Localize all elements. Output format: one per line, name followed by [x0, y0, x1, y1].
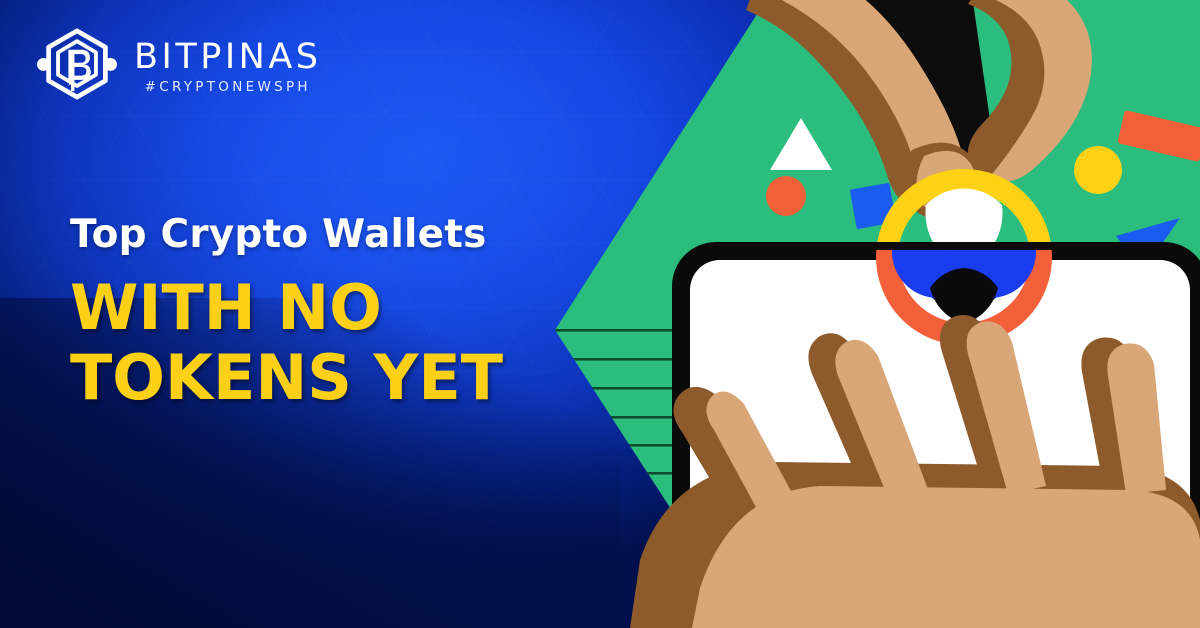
orange-circle [766, 176, 806, 216]
brand-wordmark: BITPINAS #CRYPTONEWSPH [134, 40, 321, 95]
headline-block: Top Crypto Wallets WITH NO TOKENS YET [70, 212, 590, 413]
yellow-circle [1074, 146, 1122, 194]
headline-main: WITH NO TOKENS YET [70, 273, 590, 413]
headline-eyebrow: Top Crypto Wallets [70, 212, 590, 257]
banner-canvas: BITPINAS #CRYPTONEWSPH Top Crypto Wallet… [0, 0, 1200, 628]
headline-line-1: WITH NO [70, 273, 590, 343]
brand-name: BITPINAS [134, 40, 321, 75]
brand-logo[interactable]: BITPINAS #CRYPTONEWSPH [34, 24, 321, 110]
headline-line-2: TOKENS YET [70, 343, 590, 413]
illustration-panel [520, 0, 1200, 628]
bitpinas-hexagon-b-logo-icon [34, 24, 120, 110]
brand-tagline: #CRYPTONEWSPH [145, 81, 311, 95]
